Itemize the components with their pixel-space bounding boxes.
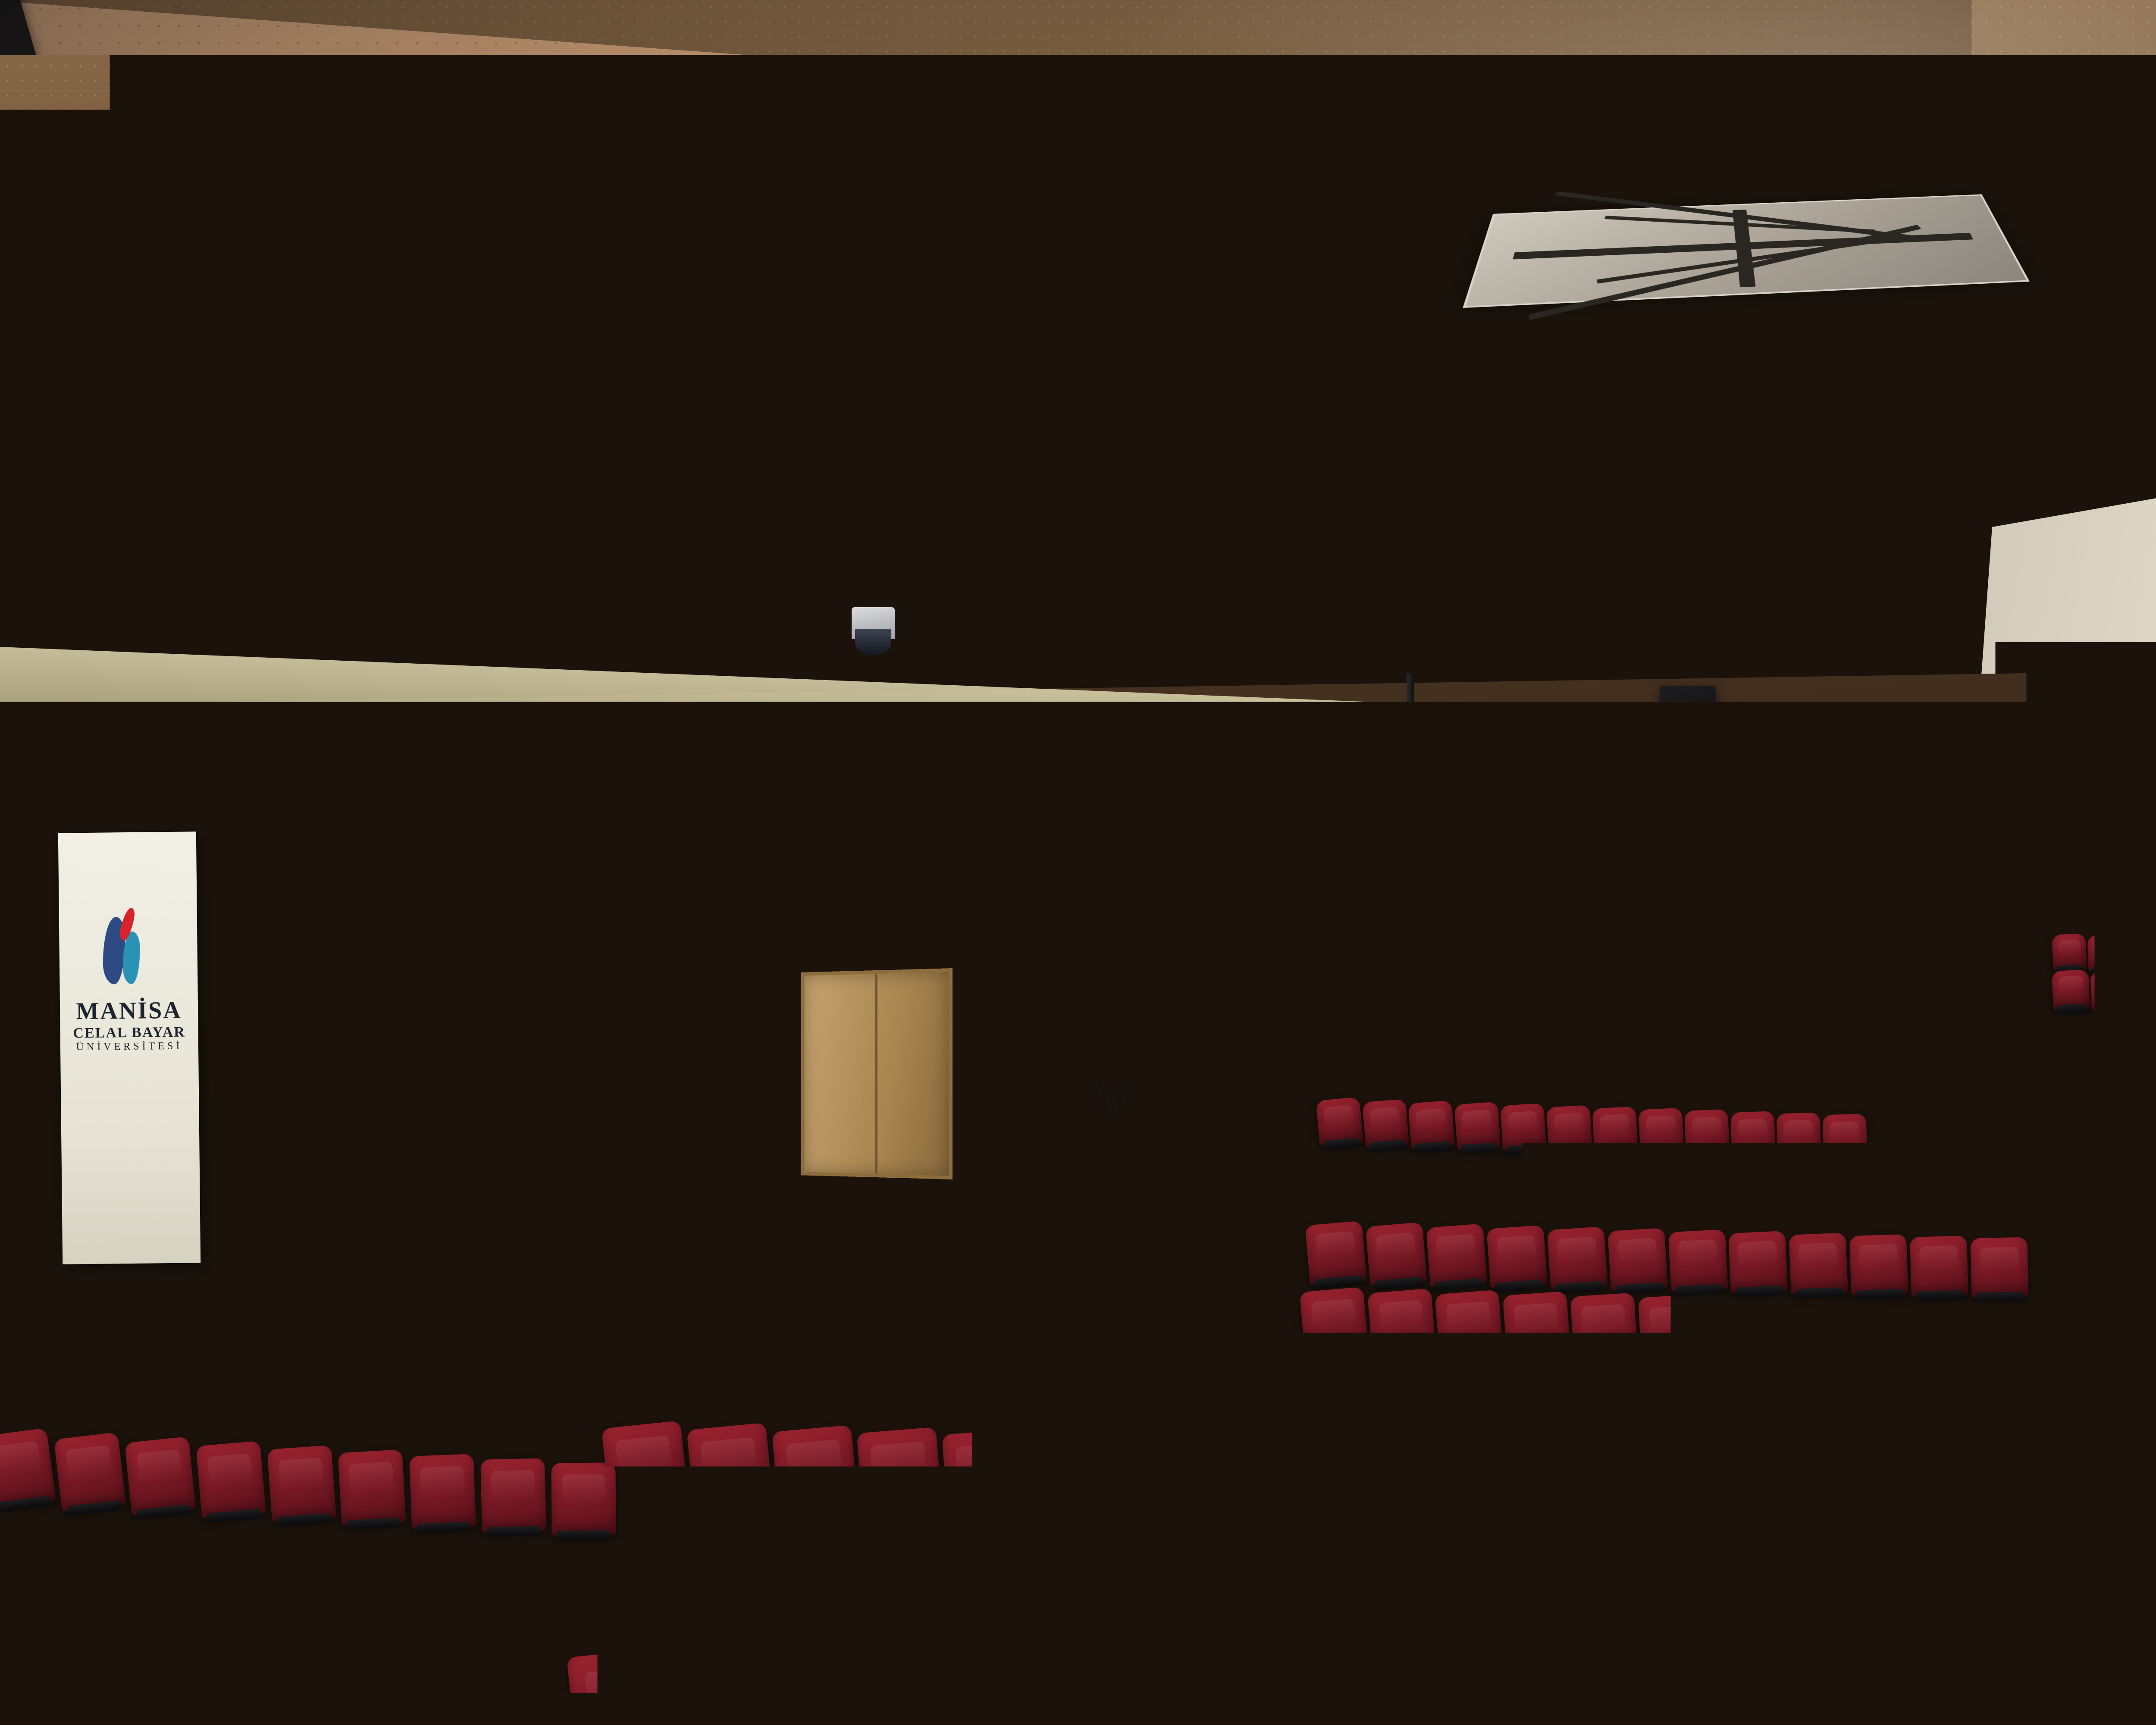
audience-member [1458,983,1480,1023]
auditorium-seat[interactable] [1959,866,1991,898]
auditorium-seat[interactable] [1971,1128,2028,1187]
country-chip [365,1032,371,1038]
wall-speaker-icon [1044,746,1091,828]
audience-hair [617,1398,668,1438]
audience-hair [1304,1407,1352,1444]
key-label: Can Coatings [365,856,390,862]
audience-hair [1316,1204,1352,1232]
audience-hair [366,1311,392,1329]
uni-line-1: MANİSA [73,997,185,1026]
audience-hair [1256,1224,1291,1250]
audience-hair [1639,1042,1662,1059]
audience-hair [693,1699,764,1725]
auditorium-seat[interactable] [744,1047,781,1085]
auditorium-seat[interactable] [1535,1433,1618,1519]
auditorium-seat[interactable] [2052,789,2075,812]
audience-hair [606,1469,662,1512]
country-chip [364,1105,369,1111]
audience-hair [861,1044,882,1060]
country-chip [530,925,536,931]
key-label: Adhesive [337,853,354,859]
flame-logo-icon [1749,799,1764,819]
audience-hair [1810,1643,1871,1689]
audience-member [1485,1556,1554,1680]
audience-hair [1189,1282,1229,1312]
audience-hair [269,1361,303,1387]
auditorium-seat[interactable] [2120,791,2142,815]
audience-hair [1983,1349,2026,1381]
auditorium-seat[interactable] [1931,819,1957,846]
audience-hair [1376,1206,1412,1233]
banner-proje-koordinasyon: MANİSA CELAL BAYAR ÜNİVERSİTESİ MANİSACE… [1725,760,1828,1019]
presentation-slide: TOYOINK For a vibrant world Global netwo… [198,755,573,1178]
audience-member [2040,1416,2095,1520]
audience-hair [1046,1705,1116,1725]
auditorium-seat[interactable] [2143,792,2156,815]
audience-hair [2098,959,2120,976]
country-chip [496,926,501,932]
rollup-logo: MANİSA TEKNKENT MANİSA CELAL BAYAR ÜNİVE… [642,978,705,1003]
auditorium-seat[interactable] [1638,1108,1683,1155]
country-tag: Vietnam [335,1091,366,1099]
auditorium-seat[interactable] [1923,963,1965,1007]
audience-hair [1332,978,1351,992]
audience-hair [425,1687,500,1725]
audience-member [845,1093,877,1151]
audience-member [934,1098,965,1155]
audience-hair [1509,1722,1574,1725]
audience-member [2077,905,2101,952]
podium: TEKNKENT II. INTERNATIONAL UNIVERSITY IN… [440,1190,561,1388]
country-chip [372,1032,377,1038]
audience-hair [1632,1412,1680,1449]
audience-hair [935,1339,981,1374]
audience-hair [1395,1638,1456,1685]
audience-member [33,1603,121,1725]
country-chip [385,1048,391,1054]
audience-hair [2018,1646,2078,1691]
country-chip [364,1063,370,1069]
auditorium-seat[interactable] [136,1304,179,1352]
audience-hair [1287,1720,1353,1725]
country-chip [359,1092,365,1098]
audience-hair [1051,1278,1091,1308]
country-name: Belgium [215,916,232,922]
audience-hair [1447,1271,1487,1302]
auditorium-seat[interactable] [2052,825,2078,852]
audience-member [1648,1273,1695,1359]
country-chip [361,998,367,1004]
auditorium-seat[interactable] [314,1320,354,1366]
auditorium-seat[interactable] [2141,1131,2156,1189]
usitem-acronym: ÜSİTEM [1336,854,1363,861]
auditorium-seat[interactable] [402,1328,443,1374]
audience-hair [9,1474,61,1515]
audience-member [2118,1643,2156,1725]
key-color-chip [357,854,364,861]
country-tag: Brazil [534,1006,558,1014]
audience-hair [1706,1642,1767,1688]
audience-hair [2078,906,2099,922]
audience-hair [1007,1052,1028,1068]
audience-member [1507,1089,1539,1148]
flame-logo-icon [100,905,157,988]
audience-hair [1747,1154,1777,1177]
tkb-title: MANİSACELAL BAYARÜNİVERSİTESİ [1097,887,1187,926]
country-chip [478,925,483,931]
country-chip [357,1105,363,1111]
japan-chip [476,1056,481,1061]
auditorium-seat[interactable] [1399,1043,1438,1084]
audience-hair [2122,862,2140,875]
audience-hair [1463,1089,1490,1110]
audience-hair [1080,1160,1110,1183]
auditorium-seat[interactable] [2097,1189,2156,1253]
audience-hair [1800,1156,1830,1179]
country-chip [358,1062,364,1068]
auditorium-seat[interactable] [1523,1164,1577,1219]
proje-subtitle: PROJE KOORDİNASYONUYGULAMA VE ARAŞTIRMA … [1730,891,1823,912]
audience-hair [1132,1163,1163,1186]
audience-hair [802,1093,828,1113]
auditorium-seat[interactable] [2085,1130,2141,1189]
auditorium-seat[interactable] [2103,826,2129,853]
auditorium-seat[interactable] [2110,1251,2156,1320]
audience-member [1599,1637,1672,1725]
audience-member [1798,1214,1839,1290]
audience-member [1553,987,1575,1027]
country-chip [542,965,546,970]
auditorium-seat[interactable] [2022,868,2053,900]
audience-hair [757,1091,783,1111]
audience-member [1911,1641,1982,1725]
audience-hair [1398,1351,1442,1384]
auditorium-seat[interactable] [2021,1072,2072,1126]
audience-member [1716,1274,1763,1361]
country-name: Malaysia [335,1032,351,1037]
audience-hair [704,1333,750,1368]
audience-member [1236,1165,1271,1231]
audience-hair [712,1088,739,1109]
audience-member [2152,862,2156,902]
country-chip [354,998,360,1004]
auditorium-seat[interactable] [1998,915,2034,953]
audience-hair [1603,1641,1664,1687]
audience-hair [1988,813,2003,825]
audience-hair [1833,1346,1876,1379]
auditorium-seat[interactable] [1964,964,2006,1007]
auditorium-seat[interactable] [2097,790,2120,814]
auditorium-seat[interactable] [1749,1057,1786,1096]
audience-hair [1693,1097,1719,1117]
audience-member [2128,923,2152,969]
audience-hair [710,1145,741,1170]
audience-hair [970,1050,991,1066]
country-chip [379,1048,384,1054]
audience-member [1461,1088,1493,1147]
auditorium-seat[interactable] [2078,825,2103,853]
audience-member [151,1351,194,1427]
auditorium-seat[interactable] [2124,1074,2156,1127]
country-name: Thailand [335,1048,351,1052]
audience-hair [1468,1409,1516,1446]
country-chip [367,998,373,1004]
podium-banner: TEKNKENT II. INTERNATIONAL UNIVERSITY IN… [454,1211,561,1386]
audience-hair [787,1402,838,1442]
audience-hair [1103,1552,1163,1597]
audience-hair [1601,1040,1623,1057]
audience-hair [844,1271,885,1303]
audience-hair [10,1278,37,1299]
flame-logo-icon [1595,786,1610,806]
audience-member [1648,992,1669,1032]
audience-member [890,1095,921,1153]
auditorium-seat[interactable] [2129,827,2155,854]
audience-hair [627,1330,673,1367]
banner-university: MANİSA CELAL BAYAR ÜNİVERSİTESİ [58,831,201,1264]
audience-hair [1561,1039,1584,1056]
audience-member [1318,1141,1357,1210]
audience-member [419,1430,467,1521]
audience-member [1377,1267,1426,1355]
audience-hair [1398,1721,1463,1725]
audience-hair [176,1678,252,1725]
audience-member [1113,1107,1143,1163]
audience-member [1859,1215,1899,1291]
audience-hair [1134,1628,1198,1677]
auditorium-seat[interactable] [1611,1000,1642,1032]
auditorium-seat[interactable] [2028,1129,2085,1189]
audience-hair [1320,1143,1351,1167]
audience-hair [1480,1147,1511,1171]
audience-hair [1299,1480,1352,1521]
country-name: Philippines [336,1063,356,1067]
audience-hair [1238,1167,1268,1189]
audience-hair [1961,1418,2009,1453]
japan-chip [483,1056,488,1061]
auditorium-seat[interactable] [1408,1100,1454,1148]
auditorium-seat[interactable] [1969,1071,2021,1125]
audience-member [2121,861,2141,900]
audience-hair [301,1683,376,1725]
auditorium-seat[interactable] [2128,971,2156,1011]
auditorium-seat[interactable] [1362,1099,1409,1147]
audience-hair [1693,1153,1724,1176]
audience-member [1391,1634,1466,1725]
audience-hair [1861,1217,1895,1243]
country-chip [242,959,248,965]
auditorium-seat[interactable] [1967,1016,2014,1065]
audience-hair [677,1032,699,1050]
audience-hair [148,1612,216,1665]
audience-member [1363,978,1386,1019]
audience-hair [1364,979,1383,994]
auditorium-seat[interactable] [1925,913,1962,950]
proje-title: MANİSACELAL BAYARÜNİVERSİTESİ [1730,843,1823,882]
auditorium-seat[interactable] [1928,865,1960,897]
auditorium-seat[interactable] [1991,867,2022,899]
slide-footer: Copyright (C) 2018 Toyo Ink Group [511,1167,558,1171]
wall-speaker-icon [707,729,755,815]
audience-hair [1027,1158,1057,1182]
audience-member [53,1280,87,1339]
country-chip [353,1048,359,1054]
audience-member [979,1100,1009,1157]
audience-hair [2057,1350,2100,1382]
audience-hair [667,1086,694,1107]
auditorium-seat[interactable] [1422,991,1454,1024]
auditorium-seat[interactable] [1517,996,1548,1028]
audience-hair [2068,1006,2096,1026]
auditorium-seat[interactable] [2134,1007,2156,1051]
auditorium-seat[interactable] [1580,999,1611,1031]
audience-hair [1213,1412,1263,1450]
audience-hair [1990,1283,2028,1311]
auditorium-seat[interactable] [2043,1250,2110,1320]
callout-country: Turkey [272,935,389,957]
audience-hair [1484,1036,1507,1053]
turkey-star-marker: ★ [273,997,304,1035]
audience-hair [1714,1414,1762,1450]
auditorium-seat[interactable] [1962,913,1999,951]
audience-hair [421,1432,463,1463]
audience-hair [1396,981,1414,995]
audience-hair [929,1703,999,1725]
audience-member [1425,1144,1463,1212]
audience-hair [657,1143,689,1168]
audience-member [2130,1349,2156,1443]
audience-hair [121,1545,181,1592]
country-chip [235,959,241,965]
audience-hair [233,1298,259,1318]
audience-member [666,1085,699,1143]
audience-member [1716,1043,1741,1092]
audience-hair [1164,1706,1233,1725]
audience-hair [1619,1211,1654,1238]
audience-hair [385,1370,418,1395]
audience-member [969,1049,994,1095]
audience-hair [512,1562,570,1606]
audience-member [421,1682,513,1725]
audience-hair [2129,925,2150,940]
audience-hair [1073,1479,1128,1521]
audience-member [1677,1042,1703,1091]
auditorium-seat[interactable] [2075,790,2097,813]
audience-member [1024,1102,1054,1159]
university-name: MANİSA CELAL BAYAR ÜNİVERSİTESİ [73,997,186,1054]
audience-hair [2122,1647,2156,1692]
auditorium-seat[interactable] [2035,1189,2097,1253]
audience-hair [1012,1216,1048,1243]
japan-detail-panel: Japan Head Office and Main Factories Toy… [450,1045,542,1166]
audience-hair [1739,1098,1765,1118]
audience-member [755,1089,788,1147]
audience-member [364,1309,393,1365]
audience-member [2058,859,2079,899]
audience-member [1184,1163,1219,1229]
audience-hair [1115,1108,1140,1127]
auditorium-seat[interactable] [2081,862,2110,892]
projector-mount-pole [1407,673,1414,828]
audience-hair [1972,1566,2028,1609]
audience-hair [1717,1044,1739,1061]
audience-hair [805,1622,870,1673]
audience-hair [1962,812,1977,824]
country-name: Vietnam [336,1093,351,1098]
audience-hair [1739,1214,1774,1241]
country-tag: Indonesia [335,1076,376,1084]
audience-member [1482,1034,1510,1084]
tk-subtitle: MANİSA CELAL BAYAR ÜNİVERSİTESİ TEKNOLOJ… [1092,859,1192,865]
japan-chip [482,1063,487,1069]
audience-hair [980,1102,1006,1122]
audience-hair [66,1411,109,1446]
country-chip [548,926,552,931]
audience-member [1703,1638,1775,1725]
banner-teknokent: MANİSA TEKNKENT MANİSA CELAL BAYAR ÜNİVE… [1092,806,1192,1048]
audience-member [1395,980,1417,1020]
audience-hair [1073,1218,1109,1245]
audience-hair [1080,1057,1101,1073]
audience-hair [1906,1159,1937,1181]
audience-hair [982,1276,1022,1307]
audience-hair [1797,1415,1844,1451]
audience-member [1296,1477,1361,1592]
japan-caption: Head Office and Main Factories [456,1071,537,1076]
ru-red-3: TEKNOLOJİ GELİŞTİRME BÖLGESİ [637,1016,710,1020]
ptz-dome-camera-icon [852,607,895,655]
auditorium-seat[interactable] [844,1357,922,1437]
audience-hair [708,1205,744,1233]
audience-hair [1532,1340,1576,1374]
audience-hair [1291,1169,1321,1191]
banner-chamber-of-commerce: 1908 [1460,797,1510,1000]
audience-member [1987,812,2006,846]
agyk-acronym: AGYK [1609,807,1633,815]
country-chip [542,925,546,931]
auditorium-seat[interactable] [2006,965,2047,1008]
audience-hair [2059,860,2077,874]
country-chip [356,1077,361,1083]
audience-hair [1427,1146,1458,1170]
auditorium-seat[interactable] [927,1058,963,1095]
audience-member [814,1148,852,1216]
auditorium-seat[interactable] [1920,1015,1967,1064]
country-chip [353,1092,358,1098]
audience-member [259,1483,321,1594]
audience-member [1830,1099,1859,1157]
audience-hair [516,1499,565,1537]
japan-chip [489,1056,494,1061]
audience-member [1187,1279,1234,1367]
audience-hair [900,1548,960,1594]
auditorium-seat[interactable] [2072,1073,2124,1127]
auditorium-seat[interactable] [1917,1070,1969,1124]
audience-member [1905,1157,1940,1224]
audience-hair [188,1295,214,1314]
audience-hair [279,1424,321,1456]
audience-hair [443,1374,476,1398]
audience-hair [2104,1493,2156,1531]
flame-logo-icon [482,1225,490,1237]
audience-hair [1445,1034,1468,1051]
country-name: Taiwan R.O.C. [466,969,490,974]
flame-logo-icon [1325,833,1339,853]
audience-hair [1185,1165,1216,1187]
audience-member [800,1091,832,1149]
audience-hair [38,1345,73,1373]
country-tag: Thailand [334,1046,392,1055]
